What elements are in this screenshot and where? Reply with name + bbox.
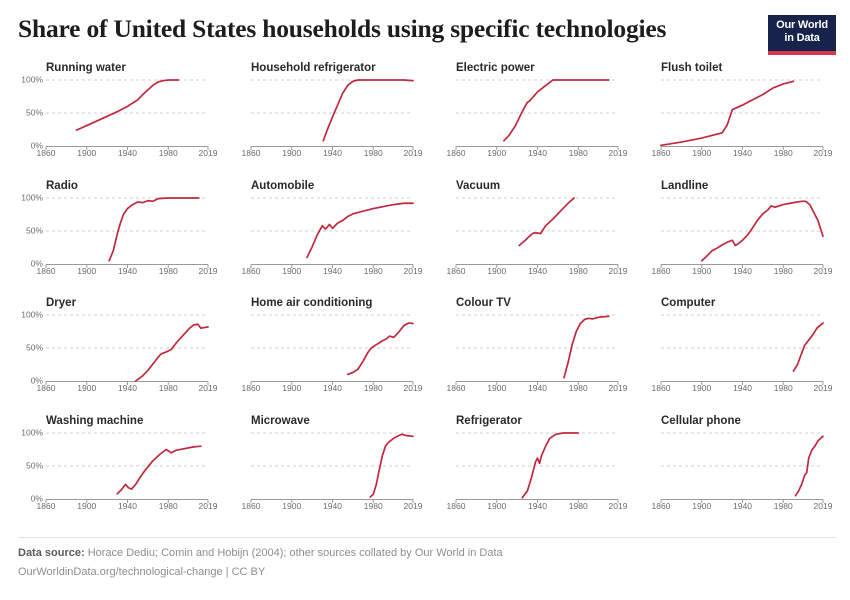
plot-area — [661, 80, 823, 146]
x-tick-label: 1860 — [652, 148, 671, 158]
x-axis-labels: 18601900194019802019 — [661, 501, 823, 513]
plot-area — [46, 198, 208, 264]
plot-area — [251, 433, 413, 499]
panel-title: Refrigerator — [456, 415, 522, 427]
panel-microwave: Microwave18601900194019802019 — [221, 415, 426, 533]
panel-automobile: Automobile18601900194019802019 — [221, 180, 426, 298]
y-tick-label: 50% — [26, 344, 43, 353]
x-axis-labels: 18601900194019802019 — [46, 266, 208, 278]
x-tick-label: 1980 — [159, 501, 178, 511]
x-tick-label: 1980 — [569, 148, 588, 158]
panel-title: Microwave — [251, 415, 310, 427]
x-tick-label: 1900 — [692, 266, 711, 276]
x-tick-label: 2019 — [609, 148, 628, 158]
x-axis-labels: 18601900194019802019 — [456, 383, 618, 395]
x-tick-label: 1980 — [774, 148, 793, 158]
x-tick-label: 1940 — [323, 383, 342, 393]
x-tick-label: 1980 — [774, 383, 793, 393]
y-tick-label: 100% — [21, 76, 43, 85]
panel-title: Vacuum — [456, 180, 500, 192]
panel-radio: Radio100%50%0%18601900194019802019 — [16, 180, 221, 298]
x-tick-label: 1940 — [733, 383, 752, 393]
x-tick-label: 1900 — [692, 501, 711, 511]
license-line[interactable]: OurWorldinData.org/technological-change … — [18, 563, 836, 582]
x-axis-labels: 18601900194019802019 — [661, 266, 823, 278]
x-tick-label: 1980 — [159, 148, 178, 158]
series-line — [504, 80, 609, 141]
y-tick-label: 50% — [26, 109, 43, 118]
x-tick-label: 2019 — [814, 148, 833, 158]
panel-cellular-phone: Cellular phone18601900194019802019 — [631, 415, 836, 533]
plot-area — [456, 80, 618, 146]
logo-line-2: in Data — [768, 32, 836, 45]
x-tick-label: 1940 — [118, 148, 137, 158]
series-line — [117, 446, 201, 494]
series-line — [323, 80, 413, 141]
plot-area — [46, 80, 208, 146]
x-axis-labels: 18601900194019802019 — [251, 266, 413, 278]
x-tick-label: 1860 — [37, 501, 56, 511]
y-tick-label: 100% — [21, 193, 43, 202]
x-axis-labels: 18601900194019802019 — [251, 148, 413, 160]
panel-colour-tv: Colour TV18601900194019802019 — [426, 297, 631, 415]
x-tick-label: 2019 — [814, 501, 833, 511]
x-tick-label: 1860 — [37, 148, 56, 158]
panel-title: Radio — [46, 180, 78, 192]
y-axis-labels: 100%50%0% — [16, 198, 46, 264]
x-tick-label: 2019 — [199, 266, 218, 276]
x-axis-labels: 18601900194019802019 — [456, 501, 618, 513]
x-tick-label: 1900 — [77, 266, 96, 276]
panel-title: Electric power — [456, 62, 535, 74]
x-tick-label: 1940 — [733, 501, 752, 511]
y-tick-label: 100% — [21, 428, 43, 437]
plot-svg — [456, 433, 618, 499]
x-tick-label: 1980 — [159, 266, 178, 276]
x-axis-labels: 18601900194019802019 — [46, 148, 208, 160]
footer-divider — [18, 537, 836, 538]
x-tick-label: 1980 — [774, 266, 793, 276]
x-tick-label: 1980 — [364, 383, 383, 393]
x-tick-label: 1900 — [487, 266, 506, 276]
chart-header: Share of United States households using … — [18, 12, 836, 56]
plot-svg — [661, 433, 823, 499]
plot-area — [661, 315, 823, 381]
series-line — [702, 201, 823, 260]
x-tick-label: 1940 — [323, 501, 342, 511]
logo-line-1: Our World — [768, 19, 836, 32]
x-tick-label: 1860 — [242, 148, 261, 158]
plot-svg — [251, 433, 413, 499]
series-line — [519, 198, 574, 246]
x-axis-labels: 18601900194019802019 — [46, 383, 208, 395]
y-axis-labels: 100%50%0% — [16, 80, 46, 146]
x-tick-label: 2019 — [609, 501, 628, 511]
x-tick-label: 1980 — [364, 501, 383, 511]
panel-electric-power: Electric power18601900194019802019 — [426, 62, 631, 180]
x-tick-label: 1940 — [323, 148, 342, 158]
panel-running-water: Running water100%50%0%186019001940198020… — [16, 62, 221, 180]
x-tick-label: 1940 — [323, 266, 342, 276]
x-tick-label: 2019 — [404, 383, 423, 393]
plot-area — [46, 315, 208, 381]
x-tick-label: 1860 — [652, 501, 671, 511]
x-tick-label: 1860 — [37, 266, 56, 276]
plot-area — [251, 80, 413, 146]
y-axis-labels: 100%50%0% — [16, 433, 46, 499]
x-tick-label: 1900 — [282, 383, 301, 393]
x-tick-label: 1980 — [569, 501, 588, 511]
panel-title: Running water — [46, 62, 126, 74]
page-title: Share of United States households using … — [18, 12, 836, 46]
series-line — [348, 323, 413, 374]
panel-dryer: Dryer100%50%0%18601900194019802019 — [16, 297, 221, 415]
x-tick-label: 1940 — [528, 148, 547, 158]
x-tick-label: 1900 — [487, 501, 506, 511]
owid-logo[interactable]: Our World in Data — [768, 15, 836, 55]
x-tick-label: 1900 — [692, 383, 711, 393]
y-axis-labels: 100%50%0% — [16, 315, 46, 381]
panel-title: Computer — [661, 297, 715, 309]
plot-area — [456, 315, 618, 381]
panel-title: Automobile — [251, 180, 314, 192]
x-tick-label: 1940 — [528, 383, 547, 393]
plot-svg — [661, 315, 823, 381]
panel-title: Cellular phone — [661, 415, 741, 427]
panel-title: Colour TV — [456, 297, 511, 309]
x-axis-labels: 18601900194019802019 — [251, 501, 413, 513]
x-tick-label: 1860 — [37, 383, 56, 393]
x-axis-labels: 18601900194019802019 — [661, 148, 823, 160]
plot-area — [661, 198, 823, 264]
x-tick-label: 1860 — [447, 148, 466, 158]
y-tick-label: 50% — [26, 461, 43, 470]
x-tick-label: 1900 — [282, 266, 301, 276]
x-tick-label: 1900 — [77, 148, 96, 158]
x-tick-label: 2019 — [609, 383, 628, 393]
data-source-line: Data source: Horace Dediu; Comin and Hob… — [18, 544, 836, 563]
x-tick-label: 1860 — [242, 501, 261, 511]
x-axis-labels: 18601900194019802019 — [456, 266, 618, 278]
x-tick-label: 1940 — [528, 501, 547, 511]
plot-svg — [251, 315, 413, 381]
plot-svg — [456, 198, 618, 264]
x-tick-label: 1860 — [242, 266, 261, 276]
y-tick-label: 50% — [26, 226, 43, 235]
x-axis-labels: 18601900194019802019 — [46, 501, 208, 513]
x-tick-label: 1900 — [77, 383, 96, 393]
panel-title: Dryer — [46, 297, 76, 309]
plot-svg — [456, 80, 618, 146]
plot-svg — [661, 198, 823, 264]
plot-svg — [661, 80, 823, 146]
x-tick-label: 1980 — [774, 501, 793, 511]
x-tick-label: 1980 — [364, 148, 383, 158]
chart-footer: Data source: Horace Dediu; Comin and Hob… — [18, 544, 836, 582]
x-tick-label: 2019 — [814, 383, 833, 393]
x-tick-label: 2019 — [199, 383, 218, 393]
panel-title: Flush toilet — [661, 62, 722, 74]
plot-svg — [46, 198, 208, 264]
x-tick-label: 2019 — [404, 266, 423, 276]
panel-vacuum: Vacuum18601900194019802019 — [426, 180, 631, 298]
x-tick-label: 2019 — [814, 266, 833, 276]
x-tick-label: 1860 — [447, 266, 466, 276]
series-line — [109, 198, 199, 261]
panel-home-air-conditioning: Home air conditioning1860190019401980201… — [221, 297, 426, 415]
x-tick-label: 1900 — [487, 383, 506, 393]
x-tick-label: 2019 — [609, 266, 628, 276]
panel-title: Landline — [661, 180, 708, 192]
plot-svg — [46, 315, 208, 381]
plot-svg — [46, 433, 208, 499]
x-tick-label: 2019 — [404, 501, 423, 511]
plot-area — [251, 198, 413, 264]
x-tick-label: 1900 — [282, 148, 301, 158]
panel-landline: Landline18601900194019802019 — [631, 180, 836, 298]
data-source-text: Horace Dediu; Comin and Hobijn (2004); o… — [88, 547, 503, 559]
x-tick-label: 1980 — [159, 383, 178, 393]
panel-flush-toilet: Flush toilet18601900194019802019 — [631, 62, 836, 180]
x-tick-label: 1900 — [77, 501, 96, 511]
x-tick-label: 1980 — [569, 266, 588, 276]
x-tick-label: 1900 — [692, 148, 711, 158]
plot-area — [661, 433, 823, 499]
panel-title: Washing machine — [46, 415, 143, 427]
x-tick-label: 1940 — [733, 148, 752, 158]
x-tick-label: 1940 — [118, 266, 137, 276]
panel-washing-machine: Washing machine100%50%0%1860190019401980… — [16, 415, 221, 533]
x-tick-label: 1980 — [364, 266, 383, 276]
plot-svg — [251, 198, 413, 264]
panel-refrigerator: Refrigerator18601900194019802019 — [426, 415, 631, 533]
x-tick-label: 1980 — [569, 383, 588, 393]
x-tick-label: 1900 — [282, 501, 301, 511]
series-line — [77, 80, 179, 130]
x-axis-labels: 18601900194019802019 — [251, 383, 413, 395]
series-line — [522, 433, 578, 498]
panel-computer: Computer18601900194019802019 — [631, 297, 836, 415]
x-tick-label: 2019 — [404, 148, 423, 158]
plot-svg — [456, 315, 618, 381]
panel-title: Household refrigerator — [251, 62, 376, 74]
plot-area — [46, 433, 208, 499]
plot-svg — [251, 80, 413, 146]
panel-title: Home air conditioning — [251, 297, 372, 309]
x-axis-labels: 18601900194019802019 — [456, 148, 618, 160]
series-line — [136, 324, 208, 381]
x-tick-label: 1940 — [118, 501, 137, 511]
x-tick-label: 1860 — [652, 383, 671, 393]
plot-area — [251, 315, 413, 381]
plot-area — [456, 198, 618, 264]
series-line — [564, 316, 609, 377]
plot-svg — [46, 80, 208, 146]
x-tick-label: 1900 — [487, 148, 506, 158]
panel-household-refrigerator: Household refrigerator186019001940198020… — [221, 62, 426, 180]
x-tick-label: 1860 — [652, 266, 671, 276]
plot-area — [456, 433, 618, 499]
x-tick-label: 1860 — [447, 501, 466, 511]
small-multiples-grid: Running water100%50%0%186019001940198020… — [16, 62, 836, 532]
x-tick-label: 1860 — [242, 383, 261, 393]
x-tick-label: 1940 — [118, 383, 137, 393]
x-tick-label: 1860 — [447, 383, 466, 393]
x-tick-label: 2019 — [199, 148, 218, 158]
data-source-label: Data source: — [18, 547, 85, 559]
x-tick-label: 2019 — [199, 501, 218, 511]
y-tick-label: 100% — [21, 311, 43, 320]
x-tick-label: 1940 — [733, 266, 752, 276]
x-tick-label: 1940 — [528, 266, 547, 276]
series-line — [793, 323, 823, 371]
x-axis-labels: 18601900194019802019 — [661, 383, 823, 395]
series-line — [307, 203, 413, 257]
